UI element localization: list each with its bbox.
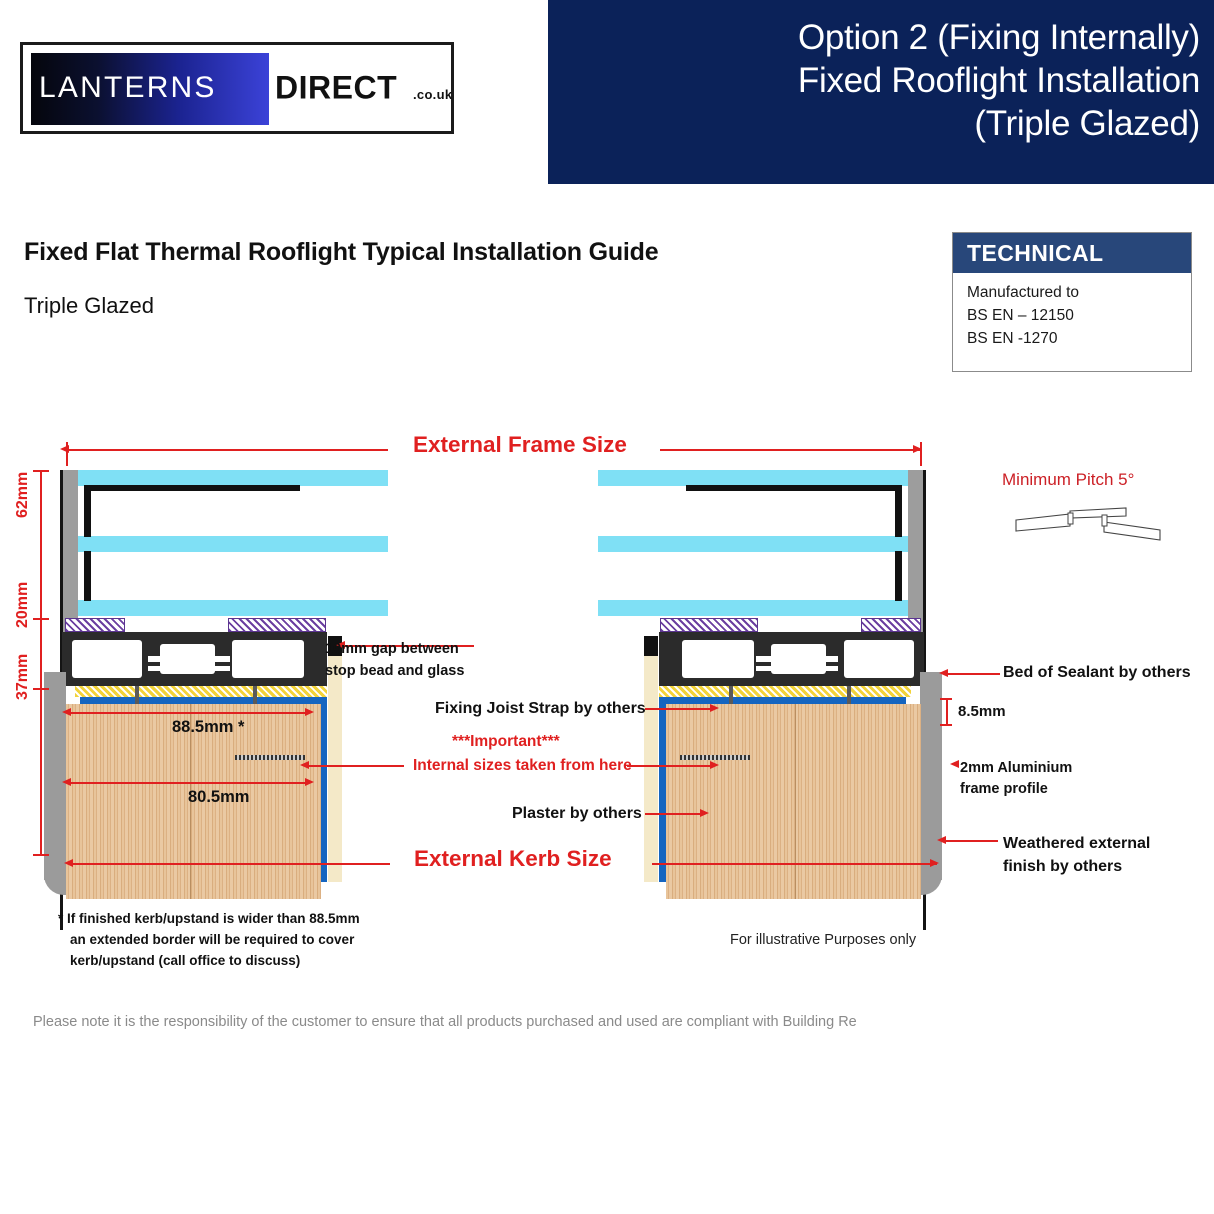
joist-strap-arrow xyxy=(710,704,719,712)
glass-pane-inner-left xyxy=(78,600,388,616)
fixing-screw-2-right xyxy=(847,686,851,704)
dim-85mm-line xyxy=(946,698,948,726)
plaster-leader xyxy=(645,813,703,815)
important-label: ***Important*** xyxy=(452,733,560,751)
fixing-screw-1-right xyxy=(729,686,733,704)
frame-thermal-break-top-right xyxy=(756,656,838,662)
plasterboard-right xyxy=(644,656,658,882)
fixing-joist-strap-left xyxy=(235,755,305,760)
dim-62mm-label: 62mm xyxy=(14,472,32,518)
building-regs-disclaimer: Please note it is the responsibility of … xyxy=(33,1014,857,1030)
plaster-layer-vertical-left xyxy=(320,697,327,882)
dim-37mm-label: 37mm xyxy=(14,654,32,700)
frame-size-arrow-left xyxy=(60,445,69,453)
gasket-left-inner xyxy=(228,618,326,632)
frame-thermal-break-bottom-right xyxy=(756,666,838,671)
frame-size-dim-line-left xyxy=(66,449,388,451)
plasterboard-left xyxy=(328,656,342,882)
dim-85mm-label: 8.5mm xyxy=(958,703,1006,720)
glass-spacer-vertical-1-left xyxy=(84,485,91,537)
fixing-joist-strap-right xyxy=(680,755,750,760)
dim-20mm-label: 20mm xyxy=(14,582,32,628)
technical-line-1: Manufactured to xyxy=(967,281,1191,304)
plaster-layer-top-left xyxy=(80,697,327,704)
dim-20mm-line xyxy=(40,618,42,690)
kerb-size-dim-line-right xyxy=(652,863,937,865)
frame-size-tick-right xyxy=(920,442,922,466)
kerb-footnote-line-3: kerb/upstand (call office to discuss) xyxy=(58,950,360,971)
fixing-screw-2-left xyxy=(253,686,257,704)
dim-37mm-tick-bottom xyxy=(33,854,49,856)
kerb-footnote: * If finished kerb/upstand is wider than… xyxy=(58,908,360,971)
glass-spacer-bar-top-left xyxy=(84,485,300,491)
dim-805mm-arrow-right xyxy=(305,778,314,786)
glass-spacer-vertical-2-left xyxy=(84,551,91,601)
aluminium-profile-line-1: 2mm Aluminium xyxy=(960,758,1072,779)
glass-spacer-vertical-1-right xyxy=(895,485,902,537)
internal-sizes-label: Internal sizes taken from here xyxy=(413,757,632,775)
aluminium-profile-line-2: frame profile xyxy=(960,779,1072,800)
weathered-label: Weathered external finish by others xyxy=(1003,832,1150,878)
dim-885mm-label: 88.5mm * xyxy=(172,718,244,737)
logo-tld: .co.uk xyxy=(413,87,452,102)
timber-kerb-upstand-right xyxy=(666,704,921,899)
weathered-leader xyxy=(946,840,998,842)
weathered-external-finish-right xyxy=(920,672,942,880)
glass-pane-outer-left xyxy=(78,470,388,486)
external-frame-size-label: External Frame Size xyxy=(413,432,627,458)
glass-pane-middle-right xyxy=(598,536,908,552)
installation-cross-section-diagram: External Frame Size 62mm 20mm 37mm xyxy=(0,400,1214,960)
frame-chamber-3-left xyxy=(232,640,304,678)
technical-line-2: BS EN – 12150 xyxy=(967,304,1191,327)
header-title-line-1: Option 2 (Fixing Internally) xyxy=(560,16,1200,59)
aluminium-profile-arrow xyxy=(950,760,959,768)
internal-sizes-arrow-left xyxy=(300,761,309,769)
joist-strap-label: Fixing Joist Strap by others xyxy=(435,700,646,718)
dim-885mm-arrow-left xyxy=(62,708,71,716)
page-title: Fixed Flat Thermal Rooflight Typical Ins… xyxy=(24,238,658,267)
frame-chamber-3-right xyxy=(844,640,914,678)
dim-805mm-arrow-left xyxy=(62,778,71,786)
gap-callout-line-2: stop bead and glass xyxy=(325,660,464,682)
external-kerb-size-label: External Kerb Size xyxy=(414,846,612,872)
sealant-label: Bed of Sealant by others xyxy=(1003,664,1191,682)
plaster-layer-vertical-right xyxy=(659,697,666,882)
frame-chamber-1-left xyxy=(72,640,142,678)
dim-62mm-tick-top xyxy=(33,470,49,472)
frame-size-tick-left xyxy=(66,442,68,466)
page-subtitle: Triple Glazed xyxy=(24,293,154,319)
frame-chamber-1-right xyxy=(682,640,754,678)
gap-callout-label: 10mm gap between stop bead and glass xyxy=(325,638,464,682)
gasket-left-outer xyxy=(65,618,125,632)
kerb-footnote-line-1: * If finished kerb/upstand is wider than… xyxy=(58,908,360,929)
frame-thermal-break-bottom-left xyxy=(148,666,230,671)
kerb-footnote-line-2: an extended border will be required to c… xyxy=(58,929,360,950)
header-title-line-3: (Triple Glazed) xyxy=(560,102,1200,145)
timber-joint-line-right xyxy=(795,704,796,899)
logo-word-lanterns: LANTERNS xyxy=(39,71,217,105)
sealant-arrow xyxy=(939,669,948,677)
bed-of-sealant-left xyxy=(75,686,327,697)
dim-85mm-tick-top xyxy=(940,698,952,700)
plaster-label: Plaster by others xyxy=(512,805,642,823)
frame-size-dim-line-right xyxy=(660,449,920,451)
weathered-arrow xyxy=(937,836,946,844)
glass-spacer-bar-top-right xyxy=(686,485,902,491)
glass-pane-outer-right xyxy=(598,470,908,486)
header-title-line-2: Fixed Rooflight Installation xyxy=(560,59,1200,102)
glass-pane-middle-left xyxy=(78,536,388,552)
weathered-line-1: Weathered external xyxy=(1003,832,1150,855)
plaster-layer-top-right xyxy=(659,697,906,704)
technical-heading: TECHNICAL xyxy=(953,233,1191,273)
gasket-right-inner xyxy=(660,618,758,632)
header-title: Option 2 (Fixing Internally) Fixed Roofl… xyxy=(560,16,1200,145)
plaster-arrow xyxy=(700,809,709,817)
dim-62mm-line xyxy=(40,470,42,618)
dim-885mm-line xyxy=(68,712,306,714)
fixing-screw-1-left xyxy=(135,686,139,704)
aluminium-profile-label: 2mm Aluminium frame profile xyxy=(960,758,1072,800)
stop-bead-right xyxy=(644,636,658,656)
header-banner: Option 2 (Fixing Internally) Fixed Roofl… xyxy=(548,0,1214,184)
dim-885mm-arrow-right xyxy=(305,708,314,716)
dim-85mm-tick-bottom xyxy=(940,724,952,726)
gap-callout-line-1: 10mm gap between xyxy=(325,638,464,660)
kerb-size-dim-line-left xyxy=(70,863,390,865)
dim-805mm-line xyxy=(68,782,306,784)
dim-805mm-label: 80.5mm xyxy=(188,788,249,807)
dim-37mm-line xyxy=(40,690,42,856)
bed-of-sealant-right xyxy=(659,686,911,697)
sealant-leader xyxy=(945,673,1000,675)
kerb-size-arrow-right xyxy=(930,859,939,867)
internal-sizes-leader-left xyxy=(306,765,404,767)
illustrative-purposes-note: For illustrative Purposes only xyxy=(730,932,916,948)
internal-sizes-leader-right xyxy=(627,765,713,767)
weathered-external-finish-left xyxy=(44,672,66,880)
glass-spacer-vertical-2-right xyxy=(895,551,902,601)
technical-body: Manufactured to BS EN – 12150 BS EN -127… xyxy=(953,273,1191,350)
joist-strap-leader xyxy=(645,708,713,710)
kerb-size-arrow-left xyxy=(64,859,73,867)
gasket-right-outer xyxy=(861,618,921,632)
technical-line-3: BS EN -1270 xyxy=(967,327,1191,350)
weathered-line-2: finish by others xyxy=(1003,855,1150,878)
frame-thermal-break-top-left xyxy=(148,656,230,662)
company-logo: LANTERNS DIRECT .co.uk xyxy=(20,42,454,134)
technical-box: TECHNICAL Manufactured to BS EN – 12150 … xyxy=(952,232,1192,372)
logo-word-direct: DIRECT xyxy=(275,70,397,107)
glass-pane-inner-right xyxy=(598,600,908,616)
internal-sizes-arrow-right xyxy=(710,761,719,769)
